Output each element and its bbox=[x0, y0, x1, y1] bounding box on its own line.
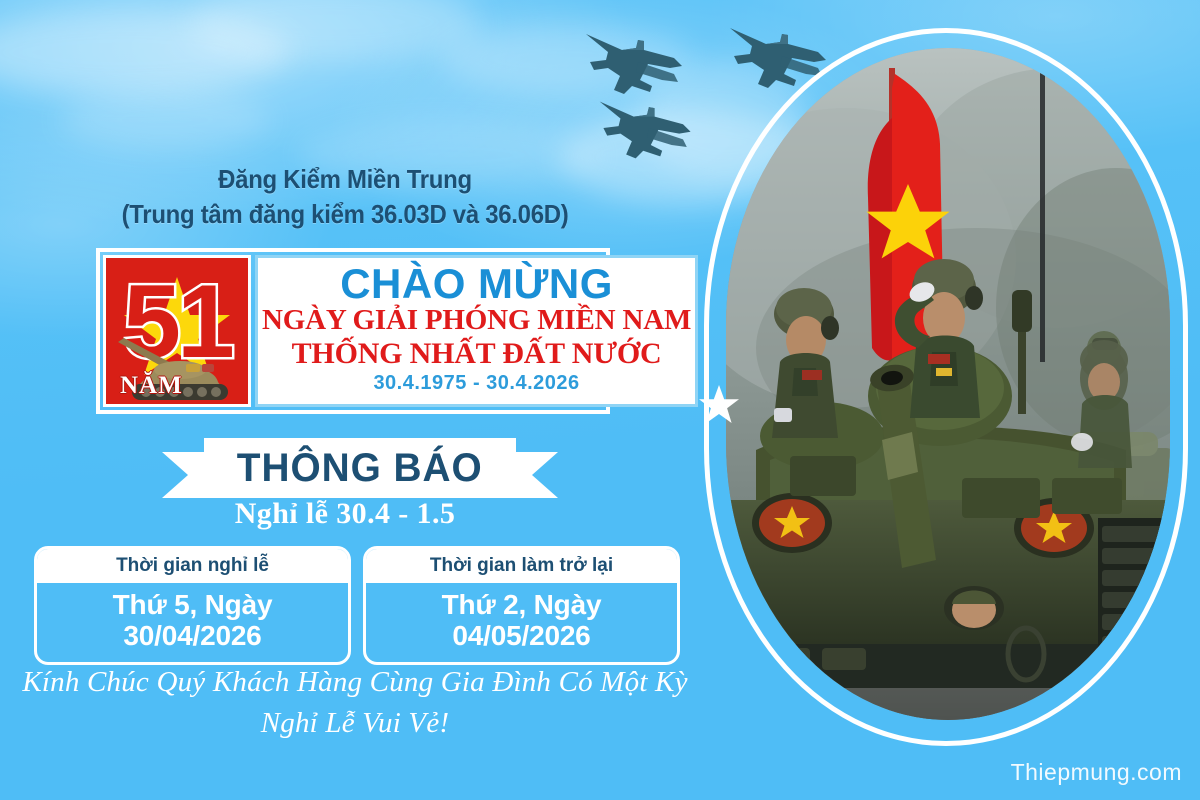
closing-message: Kính Chúc Quý Khách Hàng Cùng Gia Đình C… bbox=[10, 662, 700, 744]
cloud-decor bbox=[60, 90, 270, 150]
card-return-to-work: Thời gian làm trở lại Thứ 2, Ngày 04/05/… bbox=[363, 546, 680, 665]
badge-line-thong-nhat: THỐNG NHẤT ĐẤT NƯỚC bbox=[292, 337, 662, 370]
parade-photo bbox=[726, 48, 1170, 720]
anniversary-unit: NĂM bbox=[120, 373, 183, 398]
anniversary-panel: CHÀO MỪNG NGÀY GIẢI PHÓNG MIỀN NAM THỐNG… bbox=[255, 255, 698, 407]
cloud-decor bbox=[190, 0, 480, 62]
closing-line1: Kính Chúc Quý Khách Hàng Cùng Gia Đình C… bbox=[10, 662, 700, 703]
fighter-jet-icon bbox=[578, 24, 694, 100]
org-name-line2: (Trung tâm đăng kiểm 36.03D và 36.06D) bbox=[28, 197, 663, 232]
card-holiday-start: Thời gian nghỉ lễ Thứ 5, Ngày 30/04/2026 bbox=[34, 546, 351, 665]
card-value: Thứ 2, Ngày 04/05/2026 bbox=[366, 583, 677, 663]
ribbon-body: THÔNG BÁO bbox=[204, 438, 516, 498]
schedule-cards: Thời gian nghỉ lễ Thứ 5, Ngày 30/04/2026… bbox=[34, 546, 680, 665]
fighter-jet-icon bbox=[592, 92, 702, 164]
card-value: Thứ 5, Ngày 30/04/2026 bbox=[37, 583, 348, 663]
anniversary-emblem: 51 NĂM bbox=[103, 255, 251, 407]
badge-dates: 30.4.1975 - 30.4.2026 bbox=[373, 370, 579, 397]
anniversary-badge: 51 NĂM CHÀO MỪNG NGÀY GIẢI PHÓNG MIỀN NA… bbox=[96, 248, 610, 414]
announcement-ribbon: THÔNG BÁO bbox=[162, 438, 558, 498]
card-title: Thời gian làm trở lại bbox=[366, 549, 677, 583]
poster-canvas: Đăng Kiểm Miền Trung (Trung tâm đăng kiể… bbox=[0, 0, 1200, 800]
org-name-line1: Đăng Kiểm Miền Trung bbox=[28, 162, 663, 197]
ribbon-title: THÔNG BÁO bbox=[237, 446, 483, 491]
watermark: Thiepmung.com bbox=[1011, 759, 1182, 786]
badge-line-chao-mung: CHÀO MỪNG bbox=[340, 263, 613, 306]
ribbon-subtitle: Nghỉ lễ 30.4 - 1.5 bbox=[0, 497, 690, 531]
closing-line2: Nghỉ Lễ Vui Vẻ! bbox=[10, 703, 700, 744]
cloud-decor bbox=[0, 10, 290, 95]
organization-heading: Đăng Kiểm Miền Trung (Trung tâm đăng kiể… bbox=[28, 162, 663, 231]
badge-line-giai-phong: NGÀY GIẢI PHÓNG MIỀN NAM bbox=[262, 305, 691, 337]
white-star-icon bbox=[697, 383, 741, 432]
card-title: Thời gian nghỉ lễ bbox=[37, 549, 348, 583]
